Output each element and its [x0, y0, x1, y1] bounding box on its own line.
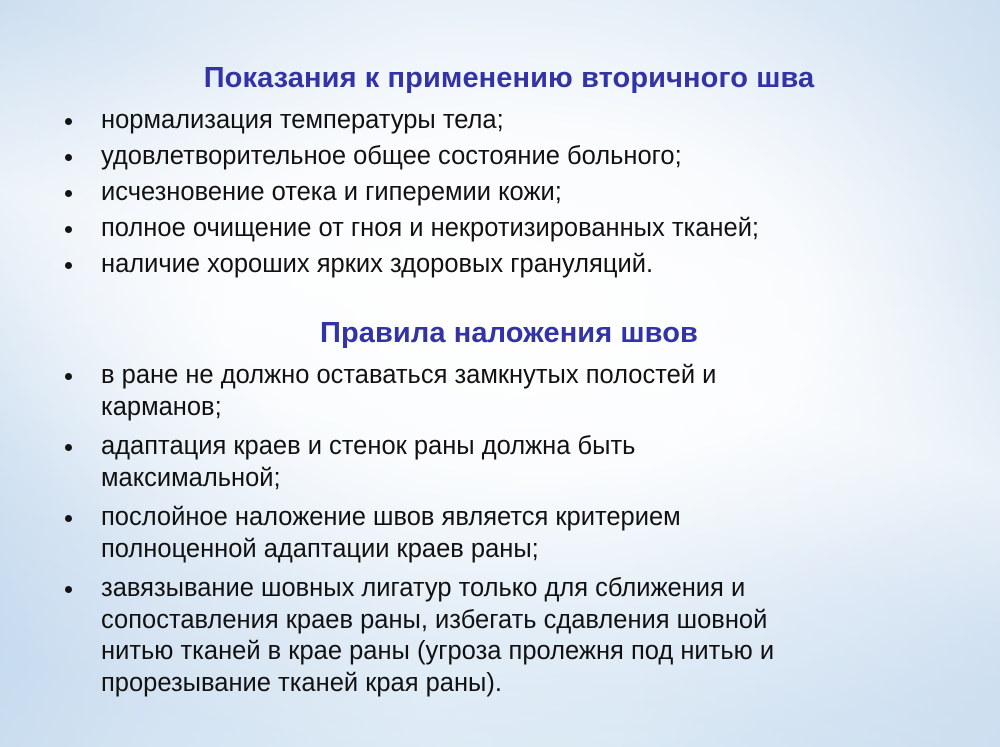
bullet-dot-icon: [65, 262, 72, 269]
list-item-text: исчезновение отека и гиперемии кожи;: [101, 176, 759, 209]
list-item: полное очищение от гноя и некротизирован…: [0, 212, 759, 248]
list-item-text: в ране не должно оставаться замкнутых по…: [101, 360, 774, 423]
list-item: исчезновение отека и гиперемии кожи;: [0, 176, 759, 212]
list-item: в ране не должно оставаться замкнутых по…: [0, 360, 774, 423]
list-item-text: удовлетворительное общее состояние больн…: [101, 140, 759, 173]
bullet-dot-icon: [65, 586, 72, 593]
bullet-dot-icon: [65, 444, 72, 451]
bullet-dot-icon: [65, 373, 72, 380]
list-item-text: завязывание шовных лигатур только для сб…: [101, 573, 774, 699]
bullet-list-indications: нормализация температуры тела; удовлетво…: [0, 104, 759, 284]
section-title-indications: Показания к применению вторичного шва: [0, 61, 1000, 95]
list-item-text: наличие хороших ярких здоровых грануляци…: [101, 248, 759, 281]
list-item-text: послойное наложение швов является критер…: [101, 502, 774, 565]
list-item: удовлетворительное общее состояние больн…: [0, 140, 759, 176]
list-item-text: нормализация температуры тела;: [101, 104, 759, 137]
bullet-dot-icon: [65, 190, 72, 197]
bullet-dot-icon: [65, 226, 72, 233]
bullet-list-rules: в ране не должно оставаться замкнутых по…: [0, 360, 774, 699]
bullet-dot-icon: [65, 515, 72, 522]
bullet-dot-icon: [65, 118, 72, 125]
list-item: завязывание шовных лигатур только для сб…: [0, 573, 774, 699]
slide-content: Показания к применению вторичного шва но…: [0, 0, 1000, 747]
section-title-rules: Правила наложения швов: [0, 316, 1000, 350]
list-item-text: адаптация краев и стенок раны должна быт…: [101, 431, 774, 494]
list-item: нормализация температуры тела;: [0, 104, 759, 140]
bullet-dot-icon: [65, 154, 72, 161]
list-item-text: полное очищение от гноя и некротизирован…: [101, 212, 759, 245]
slide-canvas: Показания к применению вторичного шва но…: [0, 0, 1000, 747]
list-item: послойное наложение швов является критер…: [0, 502, 774, 565]
list-item: наличие хороших ярких здоровых грануляци…: [0, 248, 759, 284]
list-item: адаптация краев и стенок раны должна быт…: [0, 431, 774, 494]
